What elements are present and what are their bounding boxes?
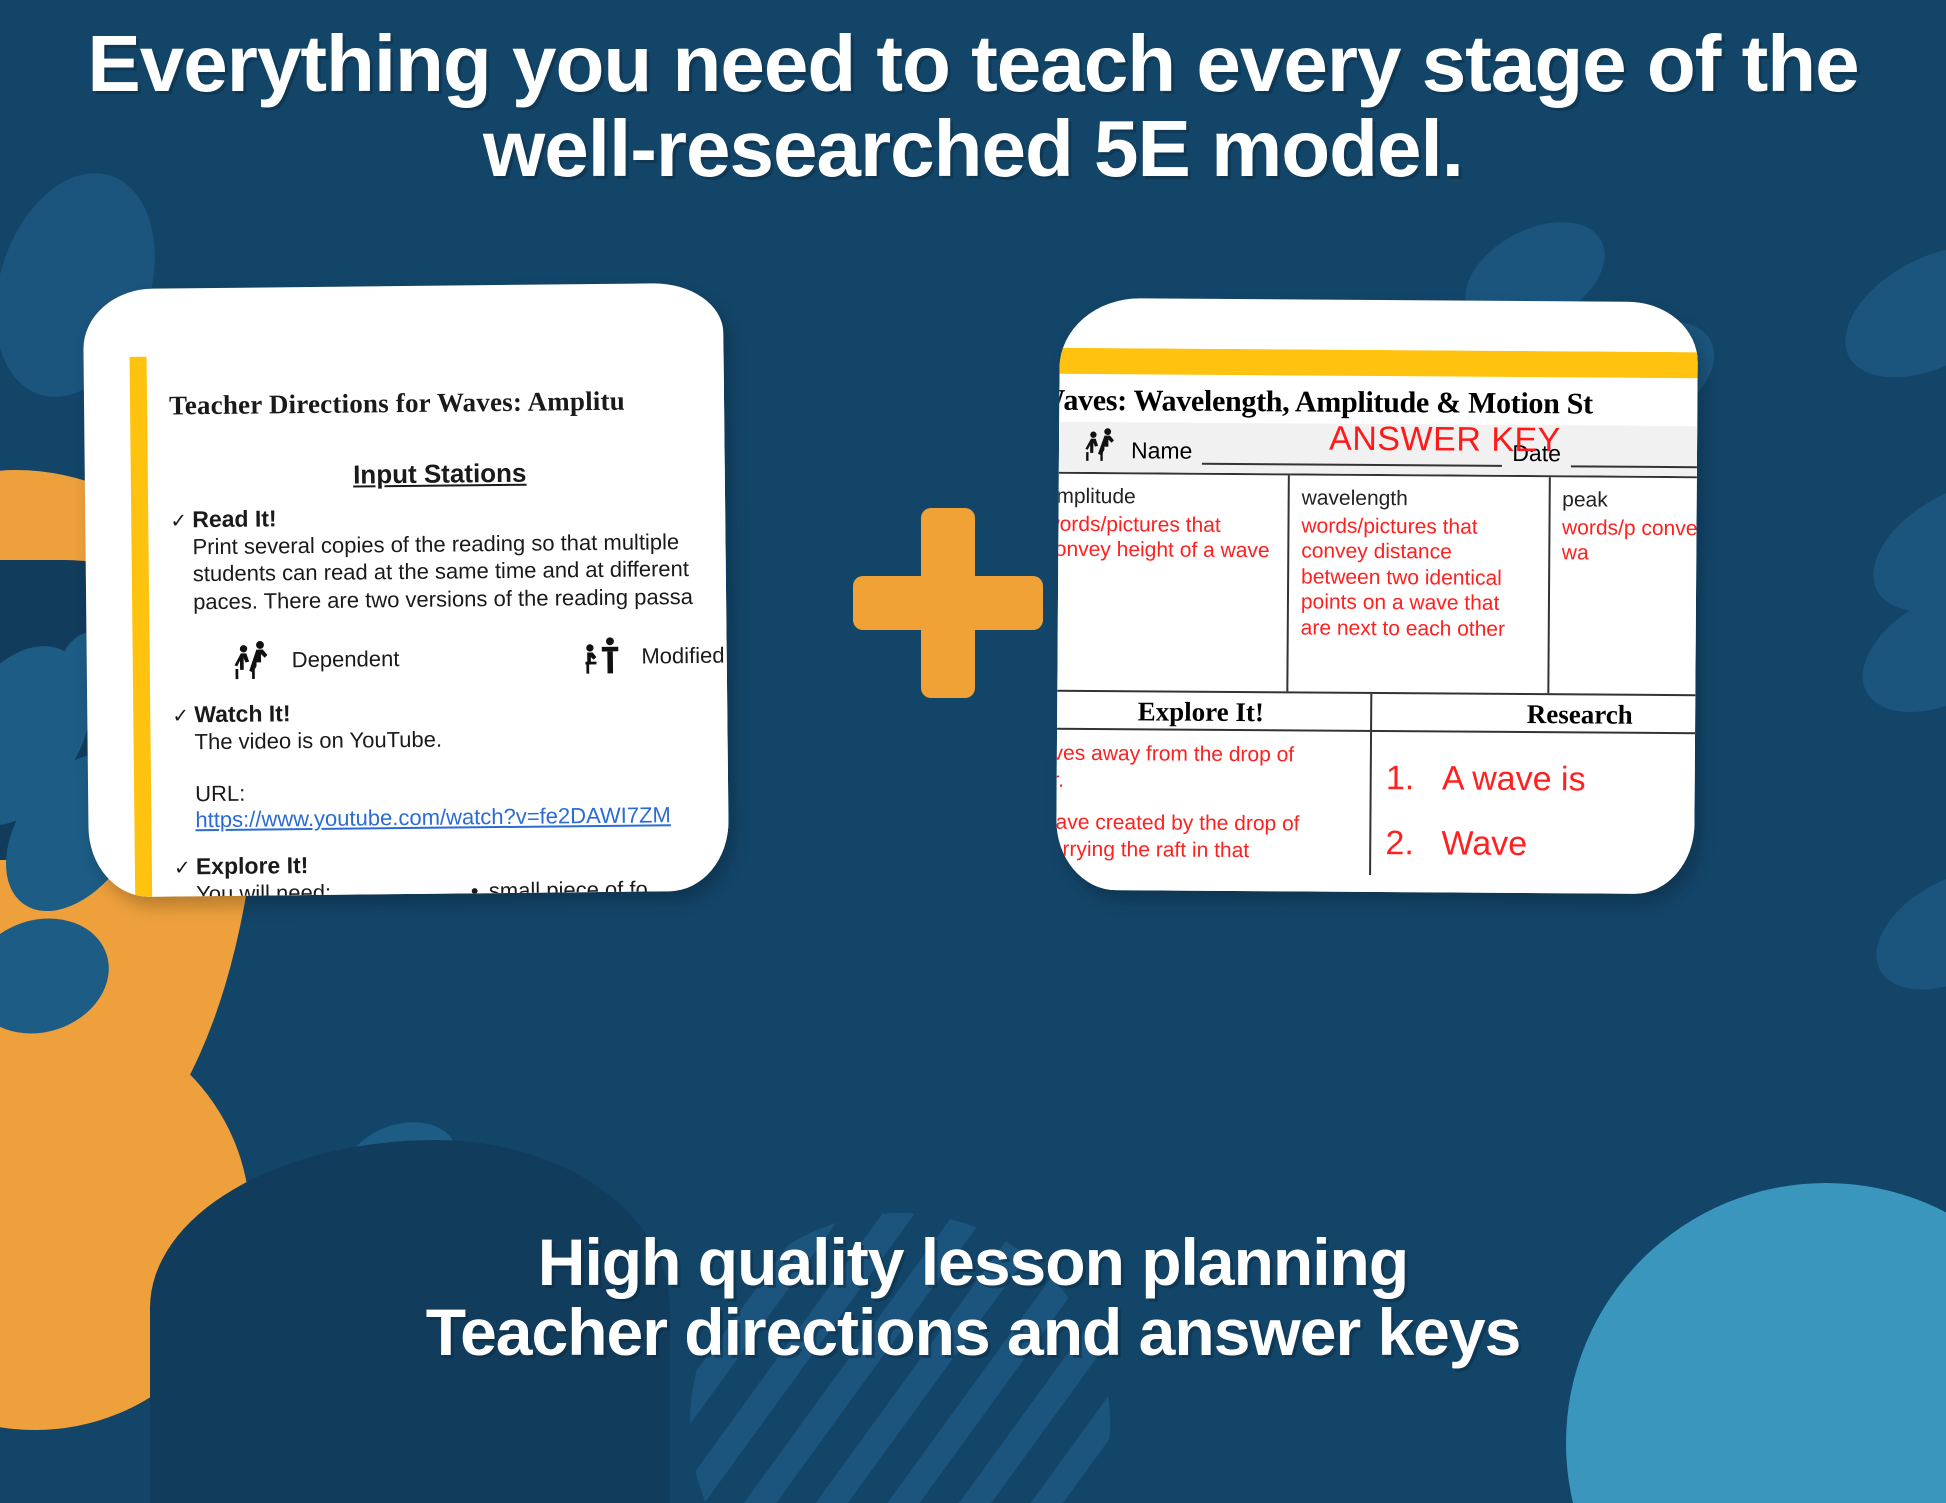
answer-line: carrying the raft in that bbox=[1056, 836, 1360, 866]
input-stations-heading: Input Stations bbox=[170, 456, 710, 493]
left-doc-title: Teacher Directions for Waves: Amplitu bbox=[169, 384, 729, 422]
decorative-ellipse bbox=[1824, 220, 1946, 405]
date-field[interactable] bbox=[1571, 441, 1698, 468]
list-text: A wave is bbox=[1442, 759, 1586, 798]
vocab-term: wavelength bbox=[1302, 485, 1537, 512]
materials-intro: You will need: bbox=[196, 878, 421, 897]
promo-graphic: Everything you need to teach every stage… bbox=[0, 0, 1946, 1503]
check-icon: ✓ bbox=[172, 703, 194, 728]
bullet-icon: • bbox=[471, 877, 489, 897]
list-text: Wave bbox=[1441, 824, 1527, 863]
teacher-directions-page: Teacher Directions for Waves: Amplitu In… bbox=[130, 350, 730, 898]
decorative-ellipse bbox=[1842, 562, 1946, 737]
footer-line-2: Teacher directions and answer keys bbox=[60, 1298, 1886, 1368]
right-doc-title: Waves: Wavelength, Amplitude & Motion St bbox=[1056, 374, 1698, 427]
answer-line: wave created by the drop of bbox=[1056, 808, 1360, 838]
answer-line: oves away from the drop of bbox=[1056, 740, 1360, 770]
decorative-ellipse bbox=[1856, 846, 1946, 1014]
material-item: •small piece of fo bbox=[471, 876, 648, 898]
watch-it-body-line: The video is on YouTube. bbox=[194, 721, 729, 755]
decorative-ellipse bbox=[1852, 454, 1946, 639]
explore-it-answer: oves away from the drop of er. wave crea… bbox=[1056, 730, 1372, 876]
footer-line-1: High quality lesson planning bbox=[60, 1228, 1886, 1298]
yellow-header-bar bbox=[1056, 348, 1698, 379]
vocab-cell-peak: peak words/p convey of a wa bbox=[1549, 477, 1698, 695]
section-heading-row: Explore It! Research bbox=[1056, 690, 1698, 735]
explore-it-label: Explore It! bbox=[196, 852, 309, 879]
name-date-bar: Name Date ANSWER KEY bbox=[1056, 422, 1698, 477]
students-climbing-icon bbox=[231, 638, 275, 682]
teacher-directions-preview[interactable]: Teacher Directions for Waves: Amplitu In… bbox=[83, 283, 729, 898]
explore-it-heading: Explore It! bbox=[1056, 692, 1373, 730]
research-heading: Research bbox=[1372, 694, 1698, 733]
section-answer-row: oves away from the drop of er. wave crea… bbox=[1056, 730, 1698, 878]
answer-line: er. bbox=[1056, 767, 1360, 797]
answer-key-preview[interactable]: Waves: Wavelength, Amplitude & Motion St… bbox=[1056, 298, 1698, 894]
vocab-term: amplitude bbox=[1056, 484, 1276, 511]
student-at-desk-icon bbox=[581, 635, 625, 679]
dependent-label: Dependent bbox=[292, 646, 400, 673]
answer-key-page: Waves: Wavelength, Amplitude & Motion St… bbox=[1056, 348, 1698, 895]
materials-column-right: •small piece of fo •eyedropper or •Slink… bbox=[471, 876, 649, 898]
list-number: 1. bbox=[1386, 746, 1442, 811]
vocab-answer: words/pictures that convey height of a w… bbox=[1056, 511, 1276, 564]
vocab-cell-wavelength: wavelength words/pictures that convey di… bbox=[1288, 475, 1550, 693]
list-number: 2. bbox=[1385, 811, 1441, 876]
read-it-label: Read It! bbox=[192, 505, 277, 532]
vocab-answer: words/p convey of a wa bbox=[1562, 515, 1698, 568]
vocab-term: peak bbox=[1562, 487, 1698, 514]
title-line-1: Everything you need to teach every bbox=[87, 19, 1400, 108]
decorative-drop bbox=[328, 1106, 471, 1231]
research-answers: 1.A wave is 2.Wave bbox=[1371, 732, 1698, 878]
youtube-url-link[interactable]: https://www.youtube.com/watch?v=fe2DAWI7… bbox=[195, 801, 729, 834]
materials-column-left: You will need: •small pie pan or bowl bbox=[196, 878, 422, 897]
modified-label: Modified bbox=[641, 642, 724, 669]
students-climbing-icon bbox=[1083, 426, 1121, 464]
page-footer: High quality lesson planning Teacher dir… bbox=[0, 1228, 1946, 1368]
reading-version-icons: Dependent Modified bbox=[231, 632, 729, 682]
decorative-drop bbox=[0, 901, 124, 1051]
research-answer-item: 1.A wave is bbox=[1386, 746, 1698, 813]
vocab-answer: words/pictures that convey distance betw… bbox=[1301, 513, 1536, 643]
answer-key-stamp: ANSWER KEY bbox=[1329, 420, 1561, 461]
name-label: Name bbox=[1131, 437, 1193, 464]
check-icon: ✓ bbox=[174, 855, 196, 880]
vocab-cell-amplitude: amplitude words/pictures that convey hei… bbox=[1056, 474, 1290, 692]
check-icon: ✓ bbox=[170, 508, 192, 533]
research-answer-item: 2.Wave bbox=[1385, 811, 1698, 878]
page-title: Everything you need to teach every stage… bbox=[0, 22, 1946, 192]
watch-it-label: Watch It! bbox=[194, 700, 291, 727]
vocabulary-row: amplitude words/pictures that convey hei… bbox=[1056, 472, 1698, 695]
plus-icon bbox=[853, 508, 1043, 698]
